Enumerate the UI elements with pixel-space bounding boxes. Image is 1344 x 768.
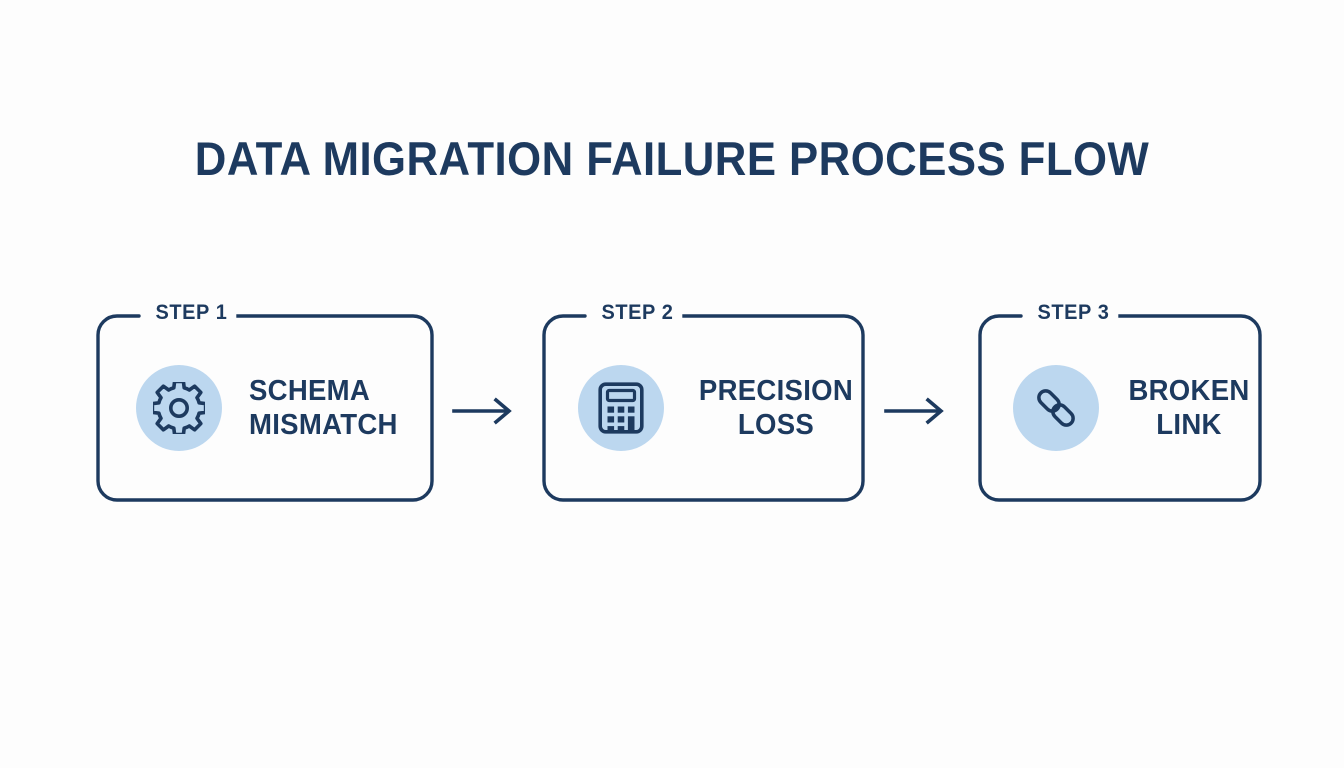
card-content-3: BROKEN LINK (977, 313, 1263, 503)
card-content-1: SCHEMA MISMATCH (95, 313, 435, 503)
step-label-2: STEP 2 (593, 301, 682, 325)
gear-icon (136, 365, 222, 451)
step-label-1: STEP 1 (147, 301, 236, 325)
page-title: DATA MIGRATION FAILURE PROCESS FLOW (47, 131, 1297, 186)
chain-link-icon (1013, 365, 1099, 451)
process-step-card-2[interactable]: STEP 2 PRECISIO (541, 313, 866, 503)
calculator-icon (578, 365, 664, 451)
card-content-2: PRECISION LOSS (541, 313, 866, 503)
step-title-3: BROKEN LINK (1123, 374, 1256, 442)
step-label-3: STEP 3 (1029, 301, 1118, 325)
arrow-right-icon (884, 394, 952, 428)
step-title-1: SCHEMA MISMATCH (249, 374, 398, 442)
step-title-2: PRECISION LOSS (691, 374, 862, 442)
diagram-canvas: DATA MIGRATION FAILURE PROCESS FLOW STEP… (0, 0, 1344, 768)
process-flow: STEP 1 SCHEMA MISMATCH (0, 300, 1344, 520)
process-step-card-3[interactable]: STEP 3 BROKEN LINK (977, 313, 1263, 503)
arrow-right-icon (452, 394, 520, 428)
process-step-card-1[interactable]: STEP 1 SCHEMA MISMATCH (95, 313, 435, 503)
